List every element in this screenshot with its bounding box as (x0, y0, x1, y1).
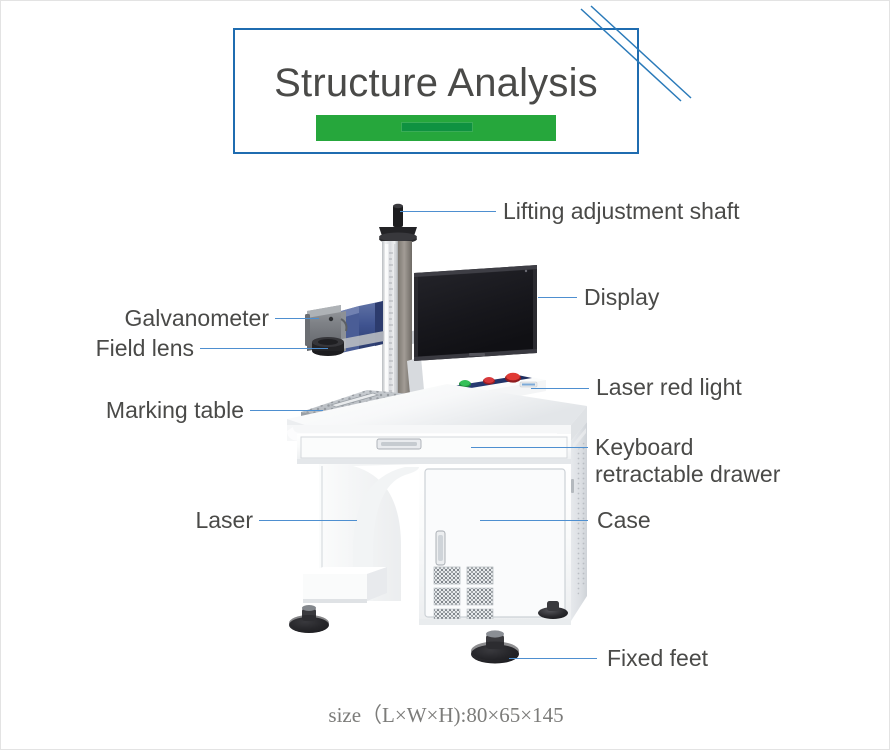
callout-keyboard-retractable-drawer: Keyboard retractable drawer (595, 434, 885, 488)
callout-case: Case (597, 507, 651, 534)
cabinet-top-deck (287, 384, 587, 441)
cabinet-side-panel (571, 422, 587, 621)
size-caption: size（L×W×H):80×65×145 (1, 699, 890, 729)
title-green-bar-inner (401, 122, 473, 132)
callout-galvanometer: Galvanometer (1, 305, 269, 332)
leader-case (480, 520, 588, 521)
leader-lifting-adjustment-shaft (400, 211, 496, 212)
fixed-foot-left (289, 605, 329, 633)
leader-marking-table (250, 410, 323, 411)
leader-fixed-feet (509, 658, 597, 659)
leader-keyboard-drawer (471, 447, 588, 448)
callout-fixed-feet: Fixed feet (607, 645, 708, 672)
callout-marking-table: Marking table (1, 397, 244, 424)
leader-galvanometer (275, 318, 319, 319)
callout-display: Display (584, 284, 659, 311)
lifting-shaft-assembly (379, 204, 417, 244)
callout-laser: Laser (1, 507, 253, 534)
cabinet-door (419, 464, 571, 625)
callout-laser-red-light: Laser red light (596, 374, 742, 401)
callout-keyboard-line1: Keyboard (595, 434, 885, 461)
leader-display (538, 297, 577, 298)
structure-analysis-slide: Structure Analysis Lifting adjustment sh… (0, 0, 890, 750)
leader-laser (259, 520, 357, 521)
leader-laser-red-light (531, 388, 589, 389)
page-title: Structure Analysis (233, 56, 639, 110)
leader-field-lens (200, 348, 328, 349)
field-lens (312, 337, 344, 356)
cabinet-left-leg (303, 464, 419, 603)
callout-field-lens: Field lens (1, 335, 194, 362)
callout-lifting-adjustment-shaft: Lifting adjustment shaft (503, 198, 740, 225)
callout-keyboard-line2: retractable drawer (595, 461, 885, 488)
keyboard-drawer (297, 434, 571, 464)
